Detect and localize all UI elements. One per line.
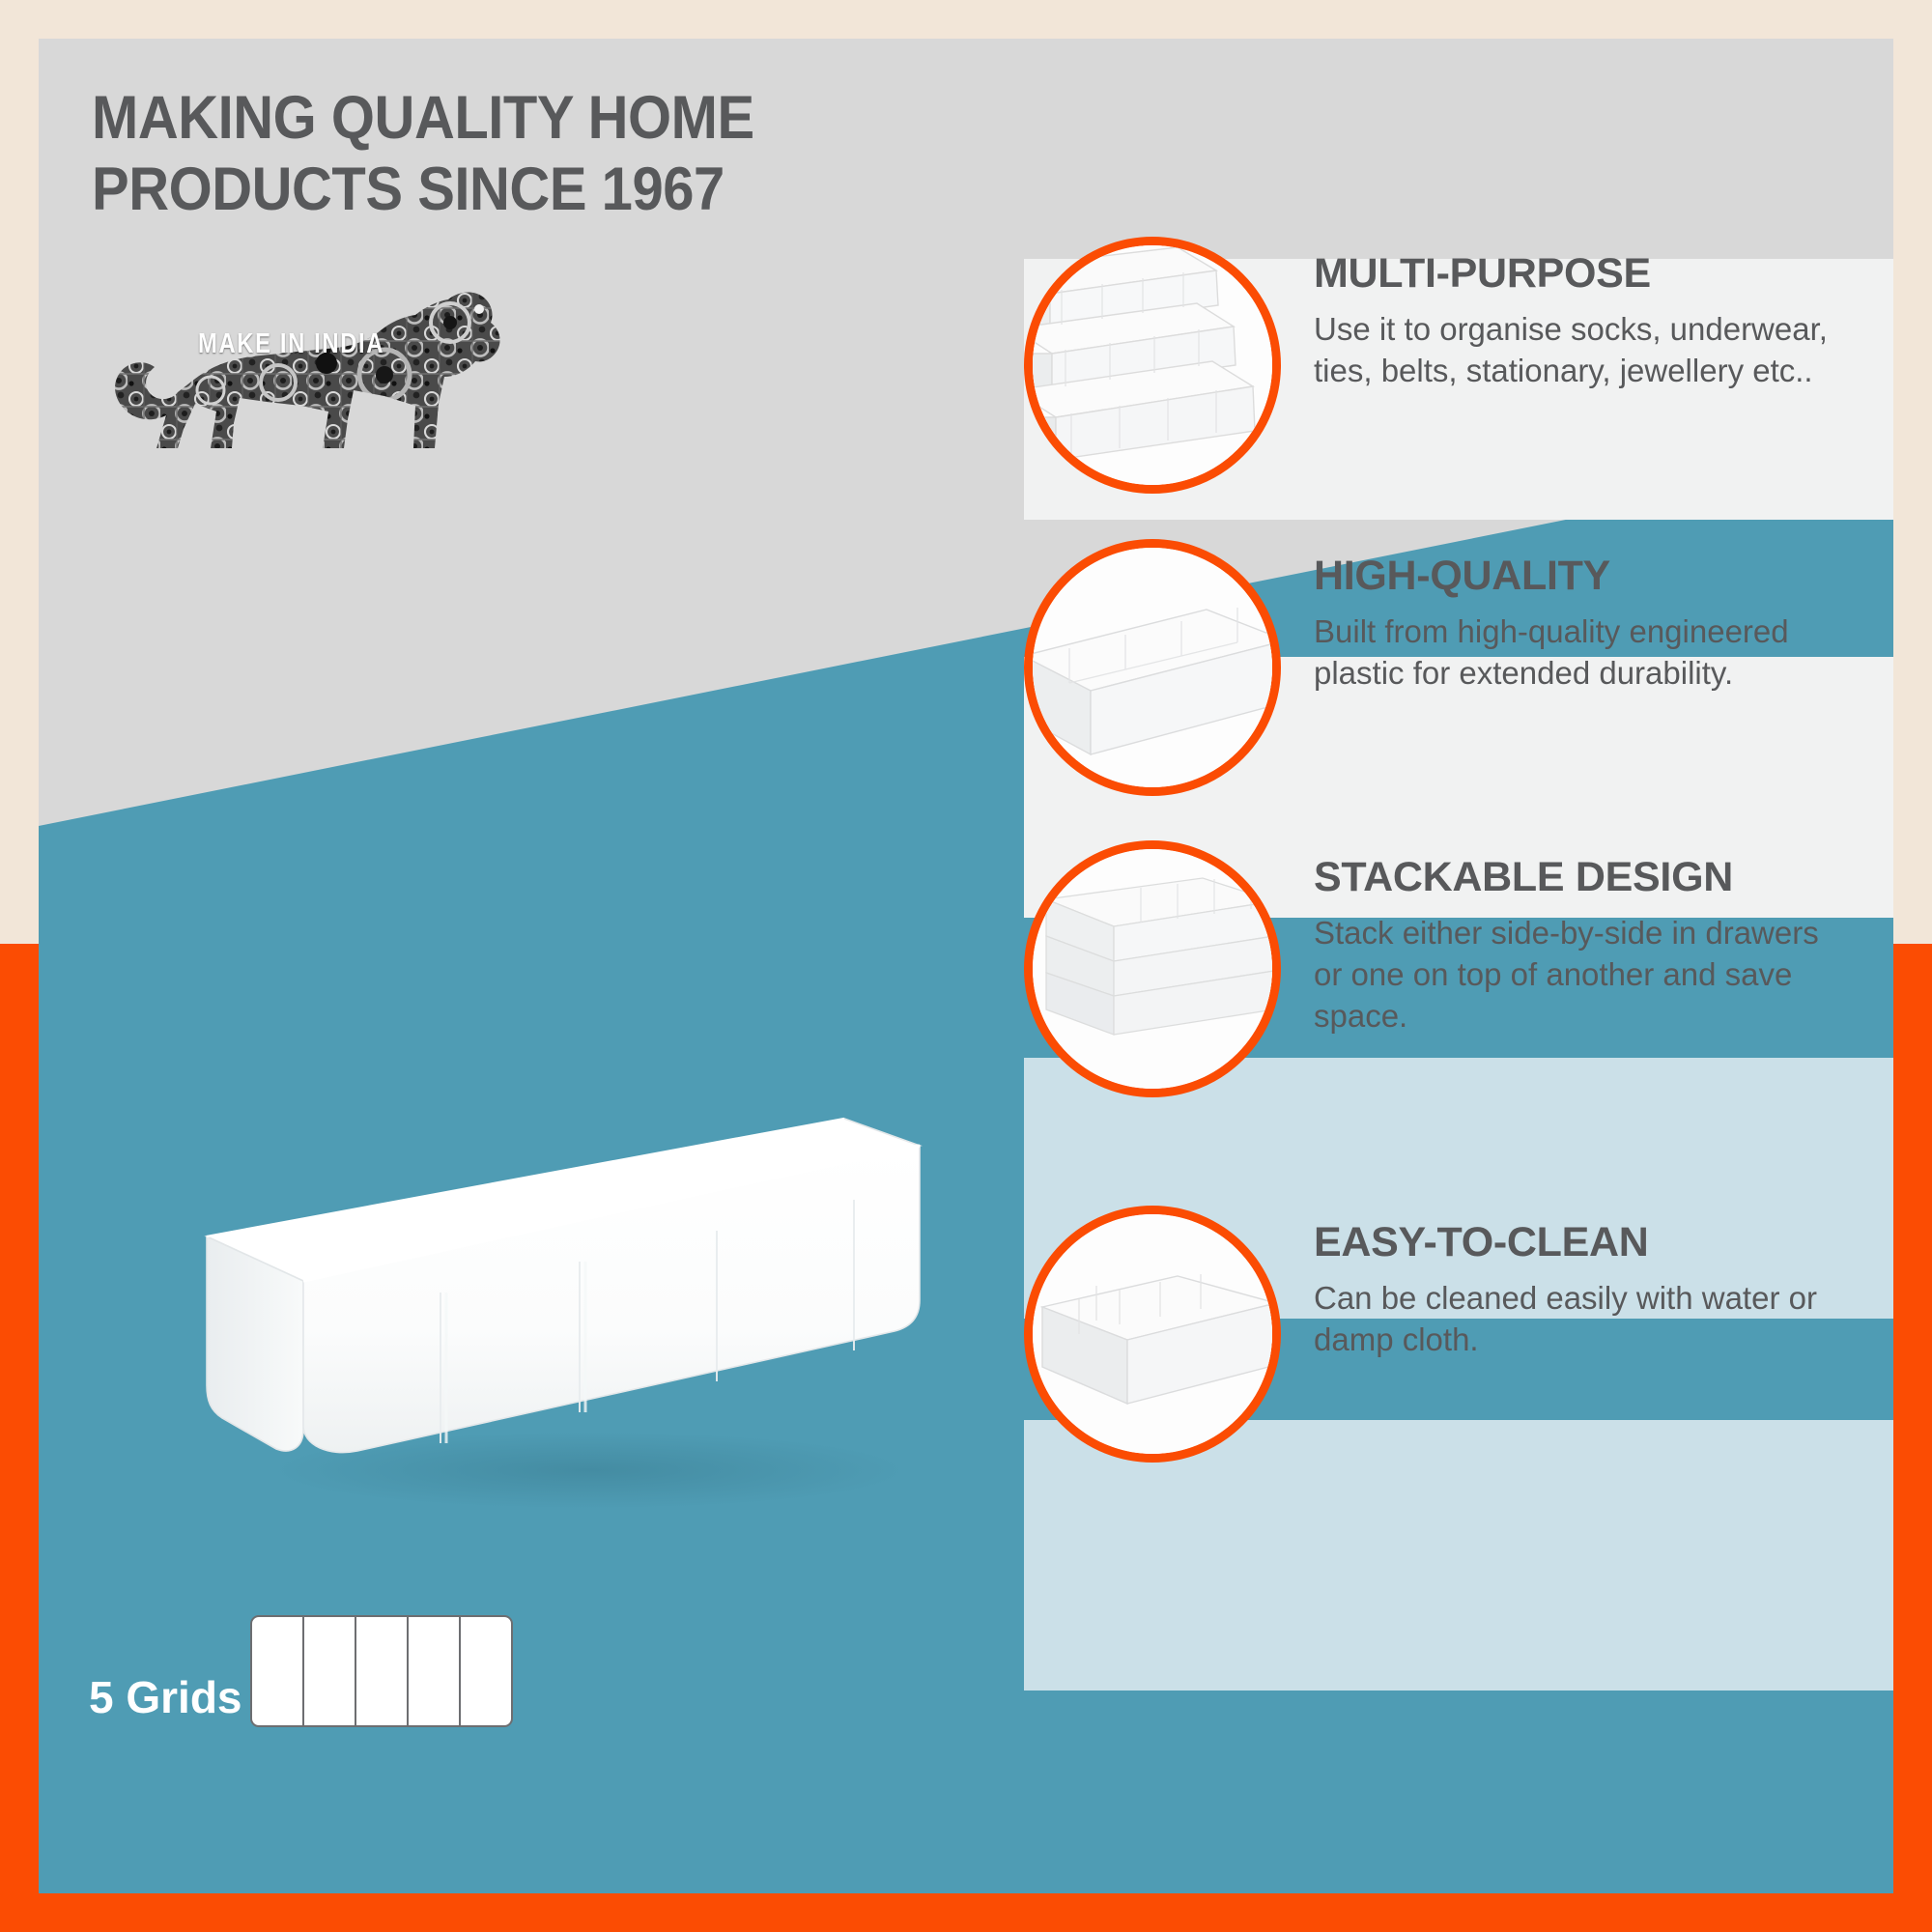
- feature-item-stackable-design: STACKABLE DESIGN Stack either side-by-si…: [1024, 840, 1893, 1130]
- feature-image-3: [1024, 840, 1281, 1097]
- five-grid-icon: [250, 1615, 513, 1727]
- white-5-grid-drawer-organiser-photo: [184, 1111, 947, 1517]
- product-infographic-poster: MAKING QUALITY HOME PRODUCTS SINCE 1967: [0, 0, 1932, 1932]
- feature-body-3: Stack either side-by-side in drawers or …: [1314, 913, 1855, 1037]
- grid-cell: [461, 1617, 511, 1725]
- poster-stage: MAKING QUALITY HOME PRODUCTS SINCE 1967: [39, 39, 1893, 1893]
- grid-cell: [409, 1617, 461, 1725]
- page-title: MAKING QUALITY HOME PRODUCTS SINCE 1967: [92, 82, 820, 226]
- feature-title-3: STACKABLE DESIGN: [1314, 856, 1855, 899]
- feature-body-1: Use it to organise socks, underwear, tie…: [1314, 309, 1855, 392]
- frame-right-orange-bar: [1893, 944, 1932, 1932]
- grid-cell: [304, 1617, 356, 1725]
- feature-text-3: STACKABLE DESIGN Stack either side-by-si…: [1314, 856, 1855, 1037]
- feature-item-high-quality: HIGH-QUALITY Built from high-quality eng…: [1024, 539, 1893, 829]
- grid-count-label: 5 Grids: [89, 1671, 242, 1723]
- frame-left-orange-bar: [0, 944, 39, 1932]
- hero-product-image: [184, 1111, 947, 1517]
- feature-title-2: HIGH-QUALITY: [1314, 554, 1855, 598]
- feature-item-easy-to-clean: EASY-TO-CLEAN Can be cleaned easily with…: [1024, 1206, 1893, 1495]
- mechanical-lion-icon: [95, 259, 510, 462]
- grid-cell: [252, 1617, 304, 1725]
- three-stacked-organisers-photo: [1033, 849, 1272, 1089]
- grid-cell: [356, 1617, 409, 1725]
- feature-item-multi-purpose: MULTI-PURPOSE Use it to organise socks, …: [1024, 237, 1893, 526]
- make-in-india-label: MAKE IN INDIA: [198, 328, 384, 360]
- feature-title-4: EASY-TO-CLEAN: [1314, 1221, 1855, 1264]
- frame-bottom-orange-bar: [0, 1893, 1932, 1932]
- feature-body-4: Can be cleaned easily with water or damp…: [1314, 1278, 1855, 1361]
- feature-text-1: MULTI-PURPOSE Use it to organise socks, …: [1314, 252, 1855, 392]
- feature-image-4: [1024, 1206, 1281, 1463]
- feature-body-2: Built from high-quality engineered plast…: [1314, 611, 1855, 695]
- stacked-organiser-trays-photo: [1033, 245, 1272, 485]
- feature-title-1: MULTI-PURPOSE: [1314, 252, 1855, 296]
- single-organiser-tray-photo: [1033, 548, 1272, 787]
- feature-image-1: [1024, 237, 1281, 494]
- feature-text-4: EASY-TO-CLEAN Can be cleaned easily with…: [1314, 1221, 1855, 1361]
- feature-text-2: HIGH-QUALITY Built from high-quality eng…: [1314, 554, 1855, 695]
- organiser-close-up-photo: [1033, 1214, 1272, 1454]
- feature-image-2: [1024, 539, 1281, 796]
